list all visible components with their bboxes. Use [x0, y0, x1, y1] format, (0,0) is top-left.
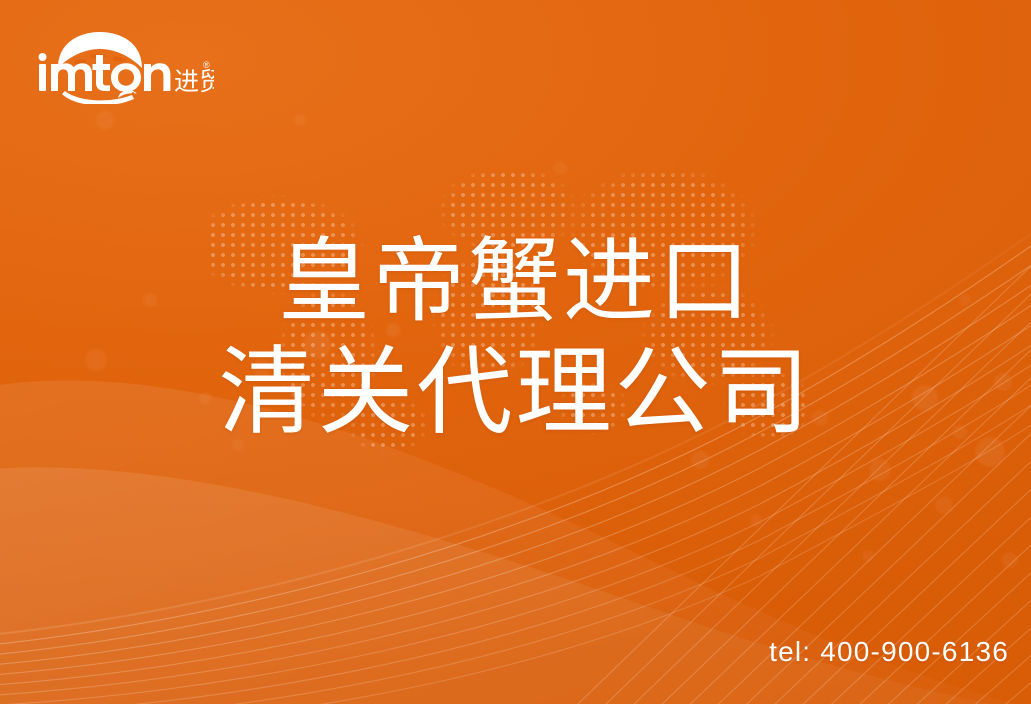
promo-banner: 进贸通 ® 皇帝蟹进口 清关代理公司 tel: 400-900-6136 — [0, 0, 1031, 704]
registered-trademark-icon: ® — [203, 60, 210, 70]
brand-logo[interactable]: 进贸通 ® — [34, 28, 214, 104]
swoosh-jet-icon — [62, 90, 137, 104]
headline: 皇帝蟹进口 清关代理公司 — [0, 228, 1031, 448]
headline-line-1: 皇帝蟹进口 — [0, 228, 1031, 336]
logo-chinese-name: 进贸通 — [174, 67, 214, 96]
contact-phone[interactable]: tel: 400-900-6136 — [769, 636, 1009, 668]
headline-line-2: 清关代理公司 — [0, 336, 1031, 448]
